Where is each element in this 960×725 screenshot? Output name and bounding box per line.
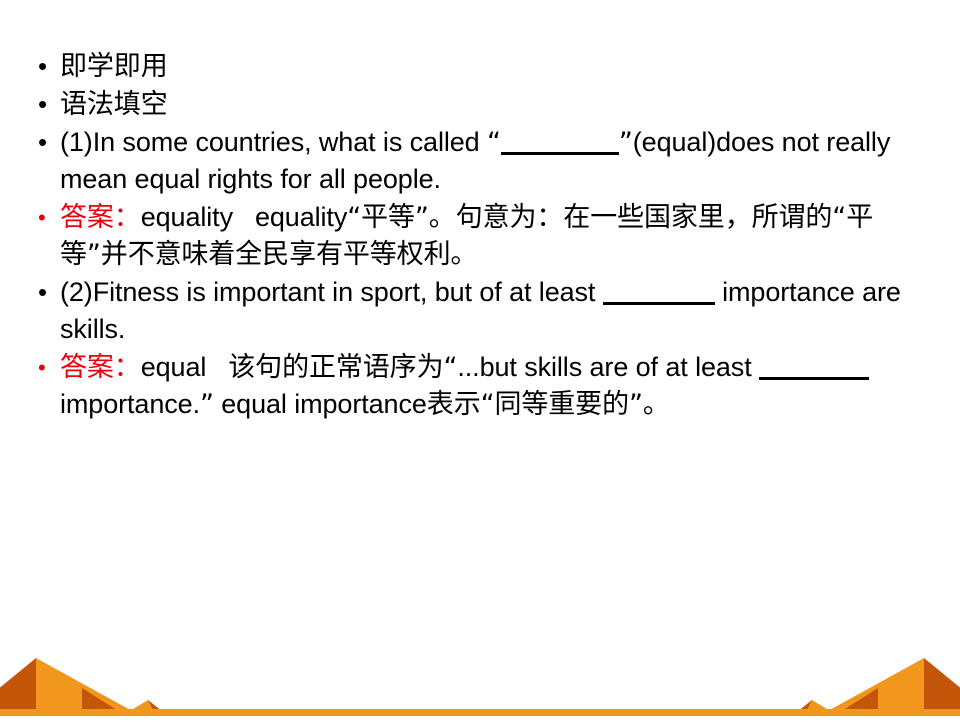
answer-2-text: 答案：equal该句的正常语序为“...but skills are of at… <box>60 349 924 423</box>
bullet-item-heading-apply: • 即学即用 <box>34 48 924 85</box>
left-dark-pyramid <box>0 658 102 712</box>
left-inner-light-face <box>82 688 134 712</box>
open-quote: “ <box>443 352 457 383</box>
bullet-marker-icon: • <box>34 274 60 311</box>
right-light-pyramid-face <box>858 658 924 712</box>
answer-2-value: equal <box>141 352 207 382</box>
question-2-text: (2)Fitness is important in sport, but of… <box>60 274 924 348</box>
right-small-dark-hill <box>797 700 812 712</box>
right-small-light-hill <box>797 700 832 712</box>
bullet-item-question-1: • (1)In some countries, what is called “… <box>34 124 924 198</box>
answer-2-explanation-lead: 该句的正常语序为 <box>228 352 443 383</box>
bullet-marker-icon: • <box>34 48 60 85</box>
answer-label: 答案： <box>60 352 141 383</box>
right-inner-light-face <box>826 688 878 712</box>
answer-2-quoted-a: ...but skills are of at least <box>457 352 751 382</box>
question-1-lead: (1)In some countries, what is called <box>60 127 480 157</box>
bullet-item-heading-grammar-fill: • 语法填空 <box>34 86 924 123</box>
answer-1-value: equality <box>141 202 233 232</box>
question-2-lead: (2)Fitness is important in sport, but of… <box>60 277 595 307</box>
question-1-text: (1)In some countries, what is called “”(… <box>60 124 924 198</box>
bullet-marker-icon: • <box>34 124 60 161</box>
slide-body: • 即学即用 • 语法填空 • (1)In some countries, wh… <box>34 48 924 424</box>
left-small-light-hill <box>128 700 163 712</box>
answer-2-tail-a: equal importance <box>221 389 427 419</box>
bullet-marker-icon: • <box>34 349 60 386</box>
bullet-marker-icon: • <box>34 86 60 123</box>
bullet-marker-icon: • <box>34 199 60 236</box>
bullet-text: 即学即用 <box>60 48 924 85</box>
footer-accent-bar <box>0 709 960 716</box>
right-light-slope <box>826 658 924 712</box>
answer-label: 答案： <box>60 202 141 233</box>
mountain-triangles-icon <box>0 648 960 720</box>
answer-blank <box>501 130 619 155</box>
open-quote: “ <box>487 127 501 158</box>
answer-2-tail-b: 表示“同等重要的”。 <box>427 389 670 420</box>
bullet-item-question-2: • (2)Fitness is important in sport, but … <box>34 274 924 348</box>
answer-2-quoted-b: importance. <box>60 389 200 419</box>
bullet-item-answer-2: • 答案：equal该句的正常语序为“...but skills are of … <box>34 349 924 423</box>
right-dark-pyramid <box>858 658 960 712</box>
answer-blank <box>603 280 715 305</box>
left-light-pyramid-face <box>36 658 102 712</box>
slide-canvas: • 即学即用 • 语法填空 • (1)In some countries, wh… <box>0 0 960 720</box>
footer-decoration <box>0 648 960 720</box>
right-inner-dark-face <box>826 688 878 712</box>
left-light-slope <box>36 658 134 712</box>
bullet-item-answer-1: • 答案：equalityequality“平等”。句意为：在一些国家里，所谓的… <box>34 199 924 273</box>
close-quote: ” <box>619 127 633 158</box>
left-small-dark-hill <box>148 700 163 712</box>
bullet-text: 语法填空 <box>60 86 924 123</box>
answer-1-explanation-lead: equality <box>255 202 347 232</box>
answer-blank <box>759 355 869 380</box>
left-inner-dark-face <box>82 688 134 712</box>
answer-1-text: 答案：equalityequality“平等”。句意为：在一些国家里，所谓的“平… <box>60 199 924 273</box>
close-quote: ” <box>200 389 214 420</box>
